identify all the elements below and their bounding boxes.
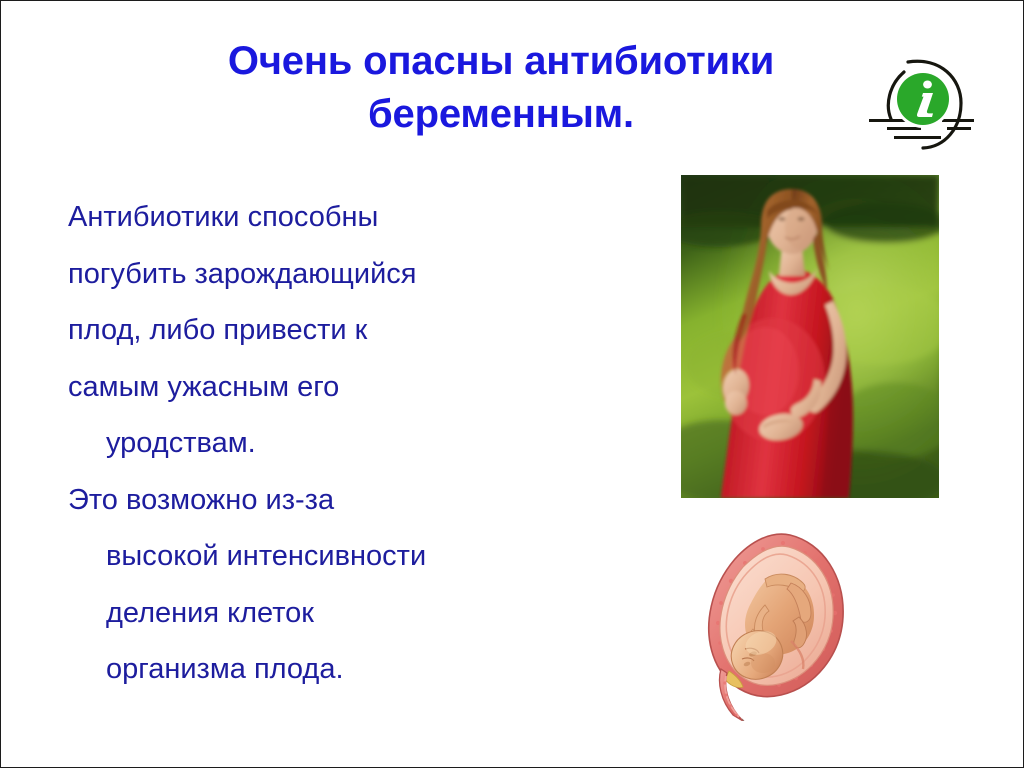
info-icon (861, 53, 979, 153)
body-line: плод, либо привести к (68, 302, 628, 359)
title-line-2: беременным. (121, 88, 881, 141)
body-line: организма плода. (68, 641, 628, 698)
body-text-block: Антибиотики способны погубить зарождающи… (68, 189, 628, 698)
body-line: высокой интенсивности (68, 528, 628, 585)
body-line: Антибиотики способны (68, 189, 628, 246)
title-line-1: Очень опасны антибиотики (121, 35, 881, 88)
body-line: деления клеток (68, 585, 628, 642)
fetus-in-womb-illustration (695, 521, 865, 721)
slide-title: Очень опасны антибиотики беременным. (121, 35, 881, 141)
pregnant-woman-photo (681, 175, 939, 498)
body-line: уродствам. (68, 415, 628, 472)
paragraph-1: Антибиотики способны погубить зарождающи… (68, 189, 628, 472)
body-line: Это возможно из-за (68, 472, 628, 529)
body-line: самым ужасным его (68, 359, 628, 416)
body-line: погубить зарождающийся (68, 246, 628, 303)
paragraph-2: Это возможно из-за высокой интенсивности… (68, 472, 628, 698)
slide-canvas: Очень опасны антибиотики беременным. (0, 0, 1024, 768)
